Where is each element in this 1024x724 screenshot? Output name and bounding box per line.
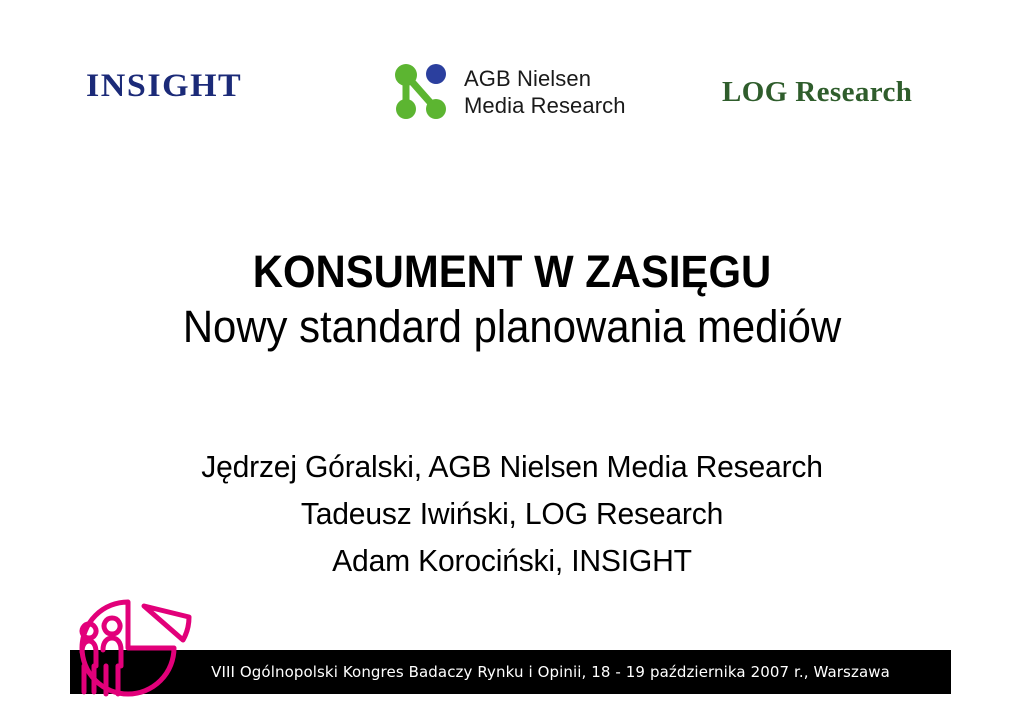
author-line: Tadeusz Iwiński, LOG Research	[15, 490, 1008, 537]
author-list: Jędrzej Góralski, AGB Nielsen Media Rese…	[0, 443, 1024, 584]
agb-nielsen-wordmark: AGB Nielsen Media Research	[464, 65, 626, 119]
agb-nielsen-line1: AGB Nielsen	[464, 66, 591, 91]
title-block: KONSUMENT W ZASIĘGU Nowy standard planow…	[0, 247, 1024, 352]
page-title: KONSUMENT W ZASIĘGU	[36, 247, 988, 297]
author-line: Adam Korociński, INSIGHT	[15, 537, 1008, 584]
slide-canvas: INSIGHT AGB Nielsen Media Research LOG R…	[0, 0, 1024, 724]
author-line: Jędrzej Góralski, AGB Nielsen Media Rese…	[15, 443, 1008, 490]
log-research-logo: LOG Research	[722, 78, 912, 107]
congress-pie-people-logo	[58, 596, 210, 700]
page-subtitle: Nowy standard planowania mediów	[36, 301, 988, 352]
agb-nielsen-logo: AGB Nielsen Media Research	[392, 61, 626, 123]
agb-nielsen-line2: Media Research	[464, 93, 626, 118]
insight-logo: INSIGHT	[86, 70, 242, 103]
agb-nielsen-mark-icon	[392, 61, 450, 123]
logo-bar: INSIGHT AGB Nielsen Media Research LOG R…	[0, 28, 1024, 108]
